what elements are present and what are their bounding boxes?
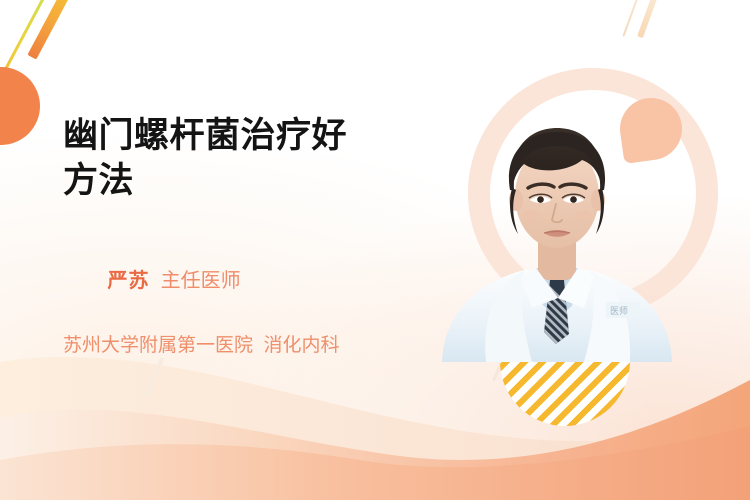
- title-line-2: 方法: [63, 161, 134, 200]
- svg-text:医师: 医师: [610, 305, 628, 317]
- credits-block: 严苏 主任医师 苏州大学附属第一医院 消化内科: [63, 236, 423, 360]
- text-content-block: 幽门螺杆菌治疗好方法 严苏 主任医师 苏州大学附属第一医院 消化内科: [63, 114, 423, 359]
- coat-badge: 医师: [606, 302, 640, 318]
- page-title: 幽门螺杆菌治疗好方法: [63, 114, 423, 204]
- credit-spacer: [149, 270, 160, 292]
- doctor-credit-line: 严苏 主任医师: [63, 236, 423, 326]
- title-line-1: 幽门螺杆菌治疗好: [63, 116, 347, 155]
- poster-canvas: 医师: [0, 0, 750, 500]
- doctor-role: 主任医师: [161, 270, 241, 292]
- affiliation-line: 苏州大学附属第一医院 消化内科: [63, 332, 423, 360]
- doctor-name: 严苏: [107, 270, 149, 292]
- doctor-portrait: 医师: [432, 92, 682, 362]
